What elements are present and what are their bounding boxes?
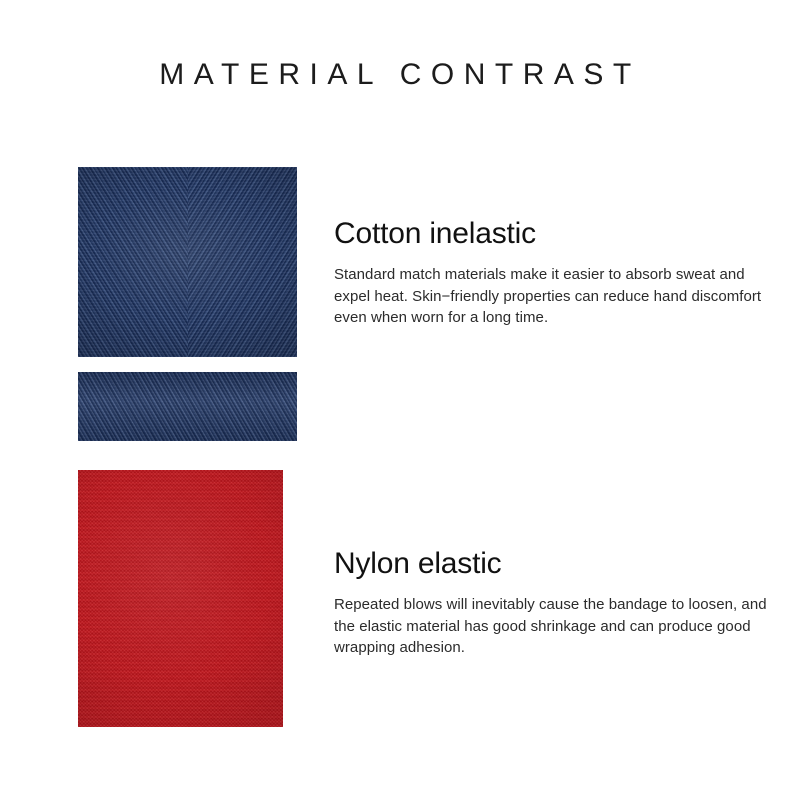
section-heading-cotton: Cotton inelastic xyxy=(334,216,774,252)
section-body-nylon: Repeated blows will inevitably cause the… xyxy=(334,582,770,659)
weave-shading-overlay xyxy=(78,470,283,727)
weave-shading-overlay xyxy=(78,167,297,357)
section-heading-nylon: Nylon elastic xyxy=(334,546,774,582)
section-cotton: Cotton inelastic Standard match material… xyxy=(334,216,774,329)
section-body-cotton: Standard match materials make it easier … xyxy=(334,252,770,329)
weave-shading-overlay xyxy=(78,372,297,441)
section-nylon: Nylon elastic Repeated blows will inevit… xyxy=(334,546,774,659)
page-title: MATERIAL CONTRAST xyxy=(0,57,800,93)
fabric-swatch-nylon xyxy=(78,470,283,727)
fabric-swatch-cotton xyxy=(78,167,297,357)
fabric-swatch-cotton-strip xyxy=(78,372,297,441)
material-contrast-page: MATERIAL CONTRAST Cotton inelastic Stand… xyxy=(0,0,800,800)
